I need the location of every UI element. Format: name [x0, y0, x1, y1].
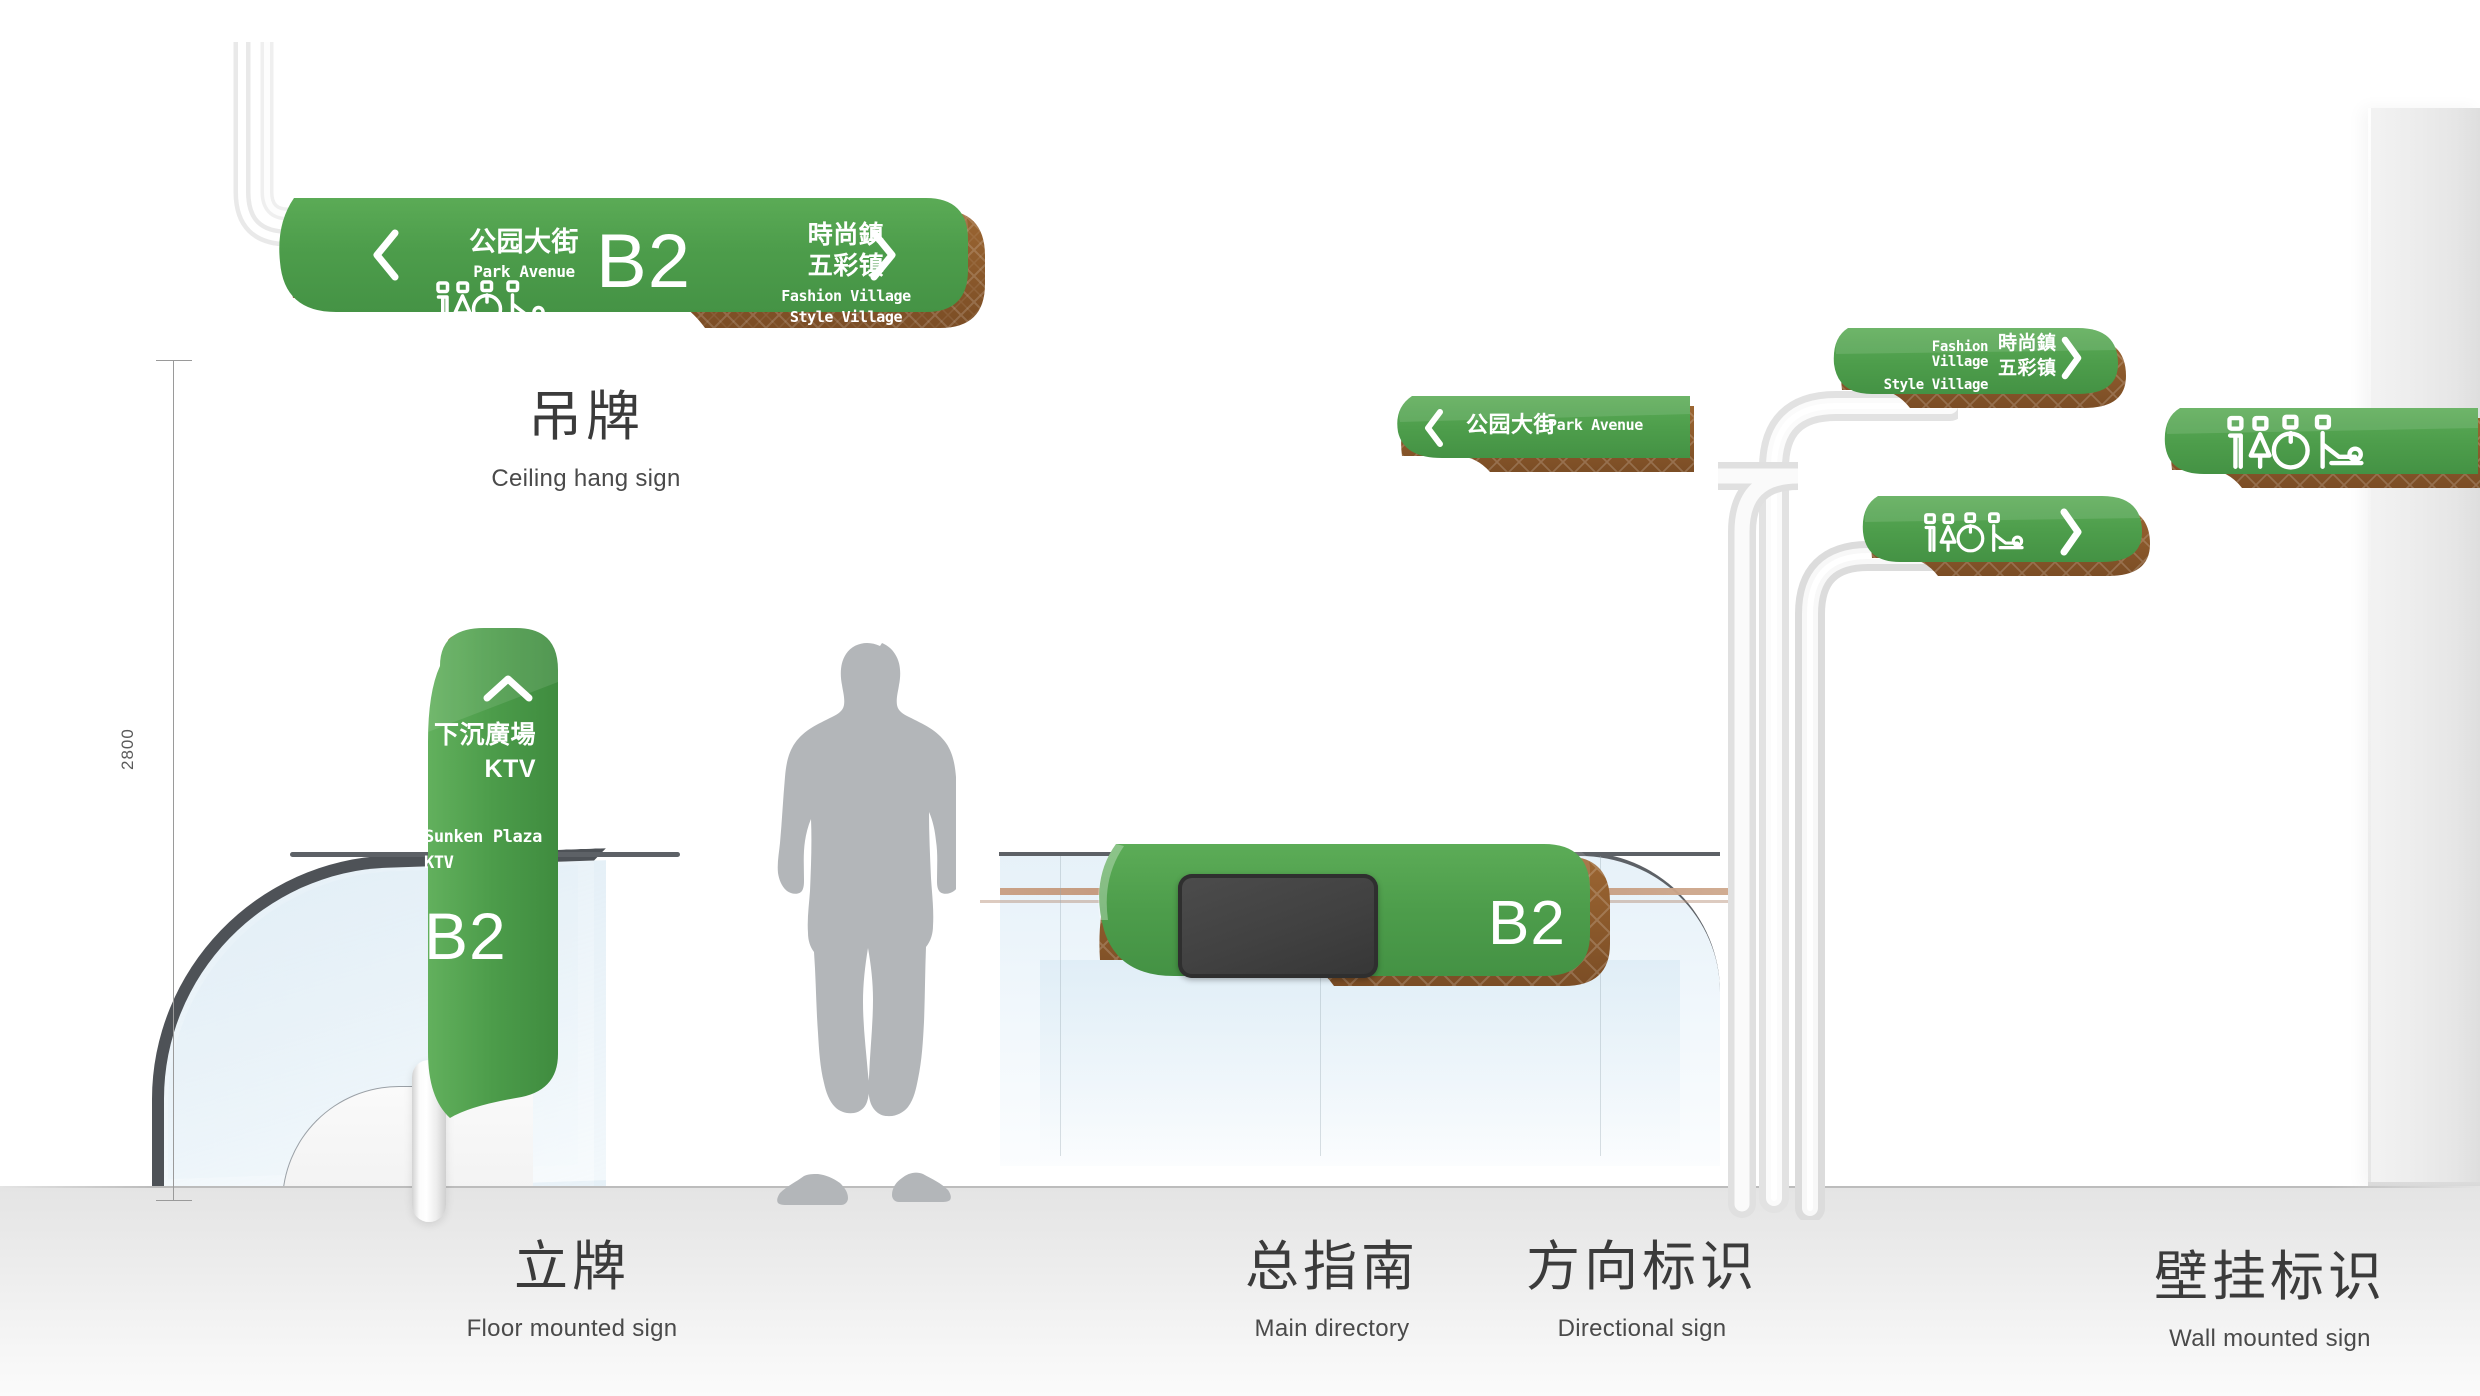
directional-left-destination-en: Park Avenue: [1548, 418, 1643, 434]
ceiling-right-destination-cn-2: 五彩镇: [746, 253, 946, 280]
directional-sign-poles: [1718, 318, 1958, 1220]
directional-left-destination-cn: 公园大街: [1466, 413, 1556, 436]
main-directory-floor-number: B2: [1488, 888, 1566, 959]
scene-root: 2800: [0, 0, 2480, 1396]
caption-en: Wall mounted sign: [2060, 1325, 2480, 1353]
caption-wall-mounted-sign: 壁挂标识 Wall mounted sign: [2060, 1232, 2480, 1353]
human-scale-figure: [776, 640, 956, 1210]
caption-floor-mounted-sign: 立牌 Floor mounted sign: [362, 1222, 782, 1343]
ceiling-left-destination-cn: 公园大街: [424, 228, 624, 257]
ceiling-right-destination-cn-1: 時尚鎮: [746, 222, 946, 249]
dimension-line: [173, 360, 174, 1200]
ceiling-left-destination-en: Park Avenue: [424, 264, 624, 281]
floor-edge-line: [0, 1186, 2480, 1188]
right-wall: [2368, 108, 2480, 1188]
chevron-left-icon: [369, 228, 403, 282]
dimension-label: 2800: [118, 728, 138, 770]
chevron-right-icon: [2056, 508, 2084, 556]
glass-mullion: [1060, 856, 1061, 1156]
restroom-family-icon: [2222, 414, 2372, 472]
caption-cn: 方向标识: [1432, 1222, 1852, 1301]
floor-sign-destination-en-1: Sunken Plaza: [424, 828, 554, 846]
dimension-tick-top: [156, 360, 192, 361]
floor-sign-destination-cn-1: 下沉廣場: [410, 722, 536, 749]
chevron-left-icon: [1422, 408, 1446, 448]
caption-en: Floor mounted sign: [362, 1315, 782, 1343]
chevron-right-icon: [2058, 336, 2084, 380]
restroom-family-icon: [1920, 512, 2030, 554]
ceiling-right-destination-en-2: Style Village: [746, 310, 946, 326]
ceiling-right-destination-en-1: Fashion Village: [746, 289, 946, 305]
floor-sign-destination-cn-2: KTV: [410, 756, 536, 783]
caption-ceiling-hang-sign: 吊牌 Ceiling hang sign: [386, 372, 786, 493]
chevron-up-icon: [482, 672, 534, 704]
ceiling-floor-number: B2: [596, 218, 691, 305]
directional-topright-en-2: Style Village: [1876, 378, 1988, 393]
caption-directional-sign: 方向标识 Directional sign: [1432, 1222, 1852, 1343]
floor-sign-destination-en-2: KTV: [424, 854, 554, 872]
restroom-family-icon: [432, 280, 552, 326]
caption-cn: 壁挂标识: [2060, 1232, 2480, 1311]
directional-topright-en-1: Fashion Village: [1876, 340, 1988, 370]
caption-cn: 立牌: [362, 1222, 782, 1301]
caption-en: Ceiling hang sign: [386, 465, 786, 493]
dimension-tick-bottom: [156, 1200, 192, 1201]
display-screen[interactable]: [1178, 874, 1378, 978]
caption-en: Directional sign: [1432, 1315, 1852, 1343]
caption-cn: 吊牌: [386, 372, 786, 451]
chevron-right-icon: [866, 228, 900, 282]
floor-sign-floor-number: B2: [424, 898, 507, 974]
